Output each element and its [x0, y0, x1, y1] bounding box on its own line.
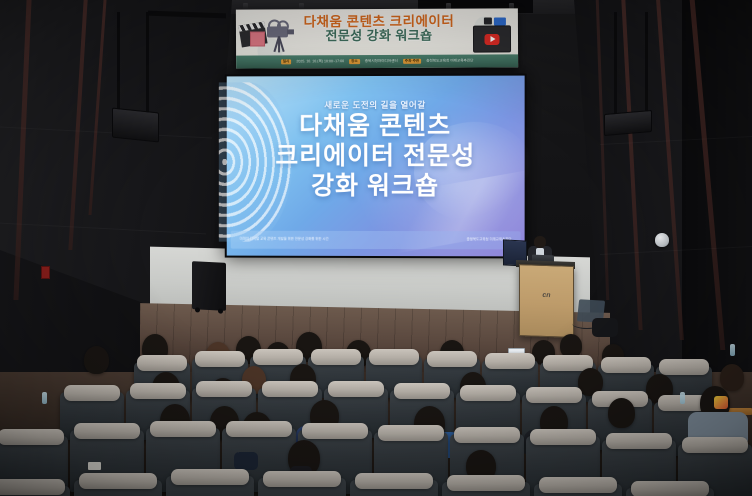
ceiling-rod — [146, 12, 149, 114]
fire-alarm-icon — [41, 266, 50, 279]
banner-footer-bar: 일시 2025. 10. 10.(목) 10:00~17:00 장소 충북시청자… — [236, 54, 518, 68]
monitor-icon — [473, 25, 511, 52]
banner-footer-tag: 일시 — [281, 59, 292, 65]
audience-seating — [0, 330, 752, 496]
slide-kicker-text: 새로운 도전의 길을 열어갈 — [227, 99, 525, 112]
lectern: cn — [519, 264, 574, 338]
dome-light-icon — [655, 233, 669, 247]
auditorium-seat — [258, 478, 346, 496]
water-bottle — [42, 392, 47, 404]
slide-title-line3: 강화 워크숍 — [227, 171, 525, 201]
projected-slide: 새로운 도전의 길을 열어갈 다채움 콘텐츠 크리에이터 전문성 강화 워크숍 … — [227, 76, 525, 257]
projector-mount — [112, 108, 159, 143]
play-button-icon — [484, 33, 499, 44]
slide-title-block: 다채움 콘텐츠 크리에이터 전문성 강화 워크숍 — [227, 111, 525, 201]
auditorium-seat — [350, 480, 438, 496]
audience-head — [608, 398, 635, 428]
audience-head — [84, 346, 109, 374]
banner-title-block: 다채움 콘텐츠 크리에이터 전문성 강화 워크숍 — [280, 14, 478, 45]
audience-bag — [234, 452, 258, 470]
banner-title-line2: 전문성 강화 워크숍 — [280, 29, 478, 45]
water-bottle — [680, 392, 685, 404]
auditorium-photo: 다채움 콘텐츠 크리에이터 전문성 강화 워크숍 일시 2025. 10. 10… — [0, 0, 752, 496]
auditorium-seat — [534, 484, 622, 496]
banner-footer-text: 충청북도교육청 미래교육추진단 — [426, 59, 473, 63]
projection-screen: 새로운 도전의 길을 열어갈 다채움 콘텐츠 크리에이터 전문성 강화 워크숍 … — [225, 74, 527, 259]
banner-footer-tag: 장소 — [349, 59, 360, 65]
auditorium-seat — [74, 480, 162, 496]
ceiling-rod — [645, 12, 648, 116]
slide-title-line1: 다채움 콘텐츠 — [227, 111, 525, 141]
ceiling-rod — [614, 12, 617, 117]
handout-paper — [88, 462, 101, 470]
slide-title-line2: 크리에이터 전문성 — [227, 141, 525, 171]
pa-speaker-cabinet — [192, 261, 226, 311]
lectern-logo: cn — [520, 291, 573, 300]
event-banner: 다채움 콘텐츠 크리에이터 전문성 강화 워크숍 일시 2025. 10. 10… — [236, 8, 518, 68]
banner-dark-shape — [484, 17, 492, 24]
auditorium-seat — [0, 486, 70, 496]
auditorium-seat — [626, 488, 714, 496]
snack-item — [714, 396, 728, 409]
auditorium-seat — [442, 482, 530, 496]
ceiling-rod — [117, 12, 120, 112]
banner-footer-tag: 주최·주관 — [403, 59, 421, 65]
audience-head — [720, 364, 744, 391]
banner-footer-text: 2025. 10. 10.(목) 10:00~17:00 — [296, 60, 344, 64]
banner-blue-shape — [494, 17, 506, 25]
auditorium-seat — [166, 476, 254, 496]
slide-footer-bar: 미래의 디지털 교육 콘텐츠 개발을 위한 전문성 강화를 위한 시간 충청북도… — [231, 231, 521, 250]
slide-footer-left: 미래의 디지털 교육 콘텐츠 개발을 위한 전문성 강화를 위한 시간 — [240, 238, 329, 242]
banner-footer-text: 충북시청자미디어센터 — [365, 60, 398, 64]
water-bottle — [730, 344, 735, 356]
projector-mount — [604, 110, 652, 136]
